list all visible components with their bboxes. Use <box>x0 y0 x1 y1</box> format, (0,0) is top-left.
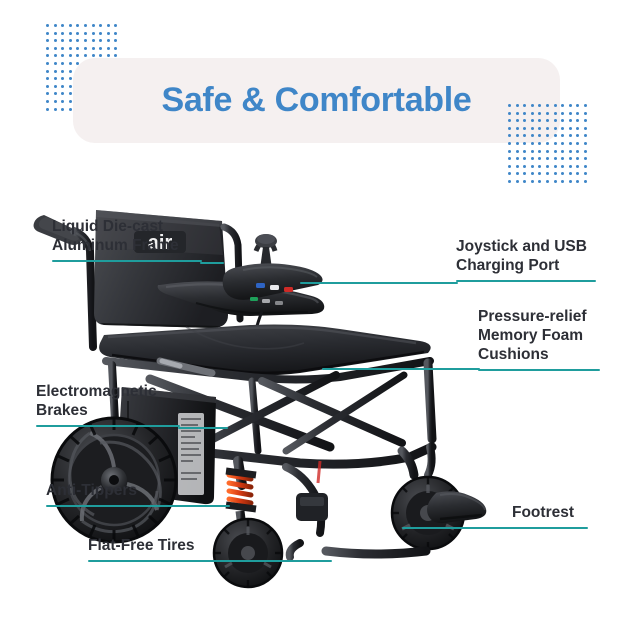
callout-label: Electromagnetic Brakes <box>36 383 180 421</box>
callout-leader-line <box>200 262 224 264</box>
callout-underline <box>88 560 206 562</box>
callout-label: Joystick and USB Charging Port <box>456 238 596 276</box>
lower-bracket-group <box>286 461 328 533</box>
callout-underline <box>46 505 150 507</box>
callout-leader-line <box>300 282 458 284</box>
callout-electromagnetic-brakes: Electromagnetic Brakes <box>36 383 180 427</box>
callout-underline <box>512 527 588 529</box>
callout-underline <box>478 369 600 371</box>
feature-graphic: Safe & Comfortable <box>0 0 630 630</box>
rear-wheel-left-group <box>52 418 176 542</box>
front-caster-group <box>214 461 282 587</box>
callout-flat-free-tires: Flat-Free Tires <box>88 537 206 562</box>
callout-leader-line <box>148 505 230 507</box>
callout-liquid-die-cast-aluminum-frame: Liquid Die-cast Aluminum Frame <box>52 218 202 262</box>
callout-underline <box>52 260 202 262</box>
callout-underline <box>456 280 596 282</box>
callout-joystick-and-usb-charging-port: Joystick and USB Charging Port <box>456 238 596 282</box>
callout-leader-line <box>178 427 228 429</box>
callout-label: Liquid Die-cast Aluminum Frame <box>52 218 202 256</box>
callout-leader-line <box>322 368 480 370</box>
callout-underline <box>36 425 180 427</box>
callout-pressure-relief-memory-foam-cushions: Pressure-relief Memory Foam Cushions <box>478 308 600 371</box>
callout-anti-tippers: Anti-Tippers <box>46 482 150 507</box>
callout-footrest: Footrest <box>512 504 588 529</box>
callout-label: Anti-Tippers <box>46 482 150 501</box>
callout-leader-line <box>402 527 514 529</box>
callout-leader-line <box>204 560 332 562</box>
callout-label: Pressure-relief Memory Foam Cushions <box>478 308 600 365</box>
callout-label: Flat-Free Tires <box>88 537 206 556</box>
page-title: Safe & Comfortable <box>73 58 560 143</box>
header-banner: Safe & Comfortable <box>73 58 560 143</box>
callout-label: Footrest <box>512 504 588 523</box>
